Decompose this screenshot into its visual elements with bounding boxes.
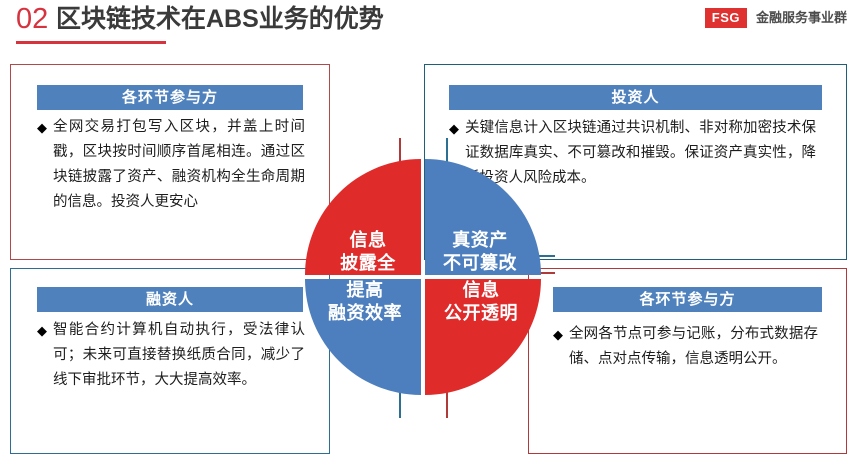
diamond-bullet-icon: ◆: [37, 318, 53, 393]
diamond-bullet-icon: ◆: [553, 322, 569, 372]
central-quadrant-diagram: 信息 披露全 真资产 不可篡改 提高 融资效率 信息 公开透明: [305, 159, 541, 395]
slide-header: 02 区块链技术在ABS业务的优势 FSG 金融服务事业群: [0, 0, 857, 52]
panel-top-left-body: ◆ 全网交易打包写入区块，并盖上时间戳，区块按时间顺序首尾相连。通过区块链披露了…: [37, 115, 305, 215]
panel-bottom-right-text: 全网各节点可参与记账，分布式数据存储、点对点传输，信息透明公开。: [569, 322, 818, 372]
panel-top-right-title: 投资人: [449, 85, 822, 110]
panel-bottom-left-body: ◆ 智能合约计算机自动执行，受法律认可；未来可直接替换纸质合同，减少了线下审批环…: [37, 318, 305, 393]
brand-logo: FSG 金融服务事业群: [705, 7, 847, 29]
quadrant-real-asset[interactable]: 真资产 不可篡改: [425, 159, 541, 275]
quadrant-financing-efficiency[interactable]: 提高 融资效率: [305, 279, 421, 395]
quadrant-info-disclosure[interactable]: 信息 披露全: [305, 159, 421, 275]
quadrant-line-2: 披露全: [340, 252, 396, 275]
panel-top-left-title: 各环节参与方: [37, 85, 303, 110]
quadrant-transparency[interactable]: 信息 公开透明: [425, 279, 541, 395]
panel-bottom-right: 各环节参与方 ◆ 全网各节点可参与记账，分布式数据存储、点对点传输，信息透明公开…: [528, 268, 847, 454]
panel-bottom-right-title: 各环节参与方: [553, 287, 822, 312]
diamond-bullet-icon: ◆: [37, 115, 53, 215]
section-number: 02: [16, 2, 48, 36]
quadrant-line-2: 不可篡改: [443, 252, 517, 275]
title-underline: [16, 41, 166, 44]
quadrant-line-2: 融资效率: [328, 302, 402, 325]
page-title: 区块链技术在ABS业务的优势: [56, 2, 384, 36]
panel-top-left: 各环节参与方 ◆ 全网交易打包写入区块，并盖上时间戳，区块按时间顺序首尾相连。通…: [10, 64, 330, 260]
panel-bottom-left: 融资人 ◆ 智能合约计算机自动执行，受法律认可；未来可直接替换纸质合同，减少了线…: [10, 268, 330, 454]
quadrant-line-2: 公开透明: [444, 302, 518, 325]
brand-mark: FSG: [705, 8, 747, 28]
panel-bottom-left-text: 智能合约计算机自动执行，受法律认可；未来可直接替换纸质合同，减少了线下审批环节，…: [53, 318, 305, 393]
panel-top-left-text: 全网交易打包写入区块，并盖上时间戳，区块按时间顺序首尾相连。通过区块链披露了资产…: [53, 115, 305, 215]
quadrant-line-1: 提高: [347, 279, 384, 302]
brand-name: 金融服务事业群: [756, 10, 847, 26]
quadrant-line-1: 信息: [463, 279, 500, 302]
panel-bottom-left-title: 融资人: [37, 287, 303, 312]
quadrant-line-1: 真资产: [452, 229, 508, 252]
panel-bottom-right-body: ◆ 全网各节点可参与记账，分布式数据存储、点对点传输，信息透明公开。: [553, 322, 818, 372]
quadrant-line-1: 信息: [350, 229, 387, 252]
